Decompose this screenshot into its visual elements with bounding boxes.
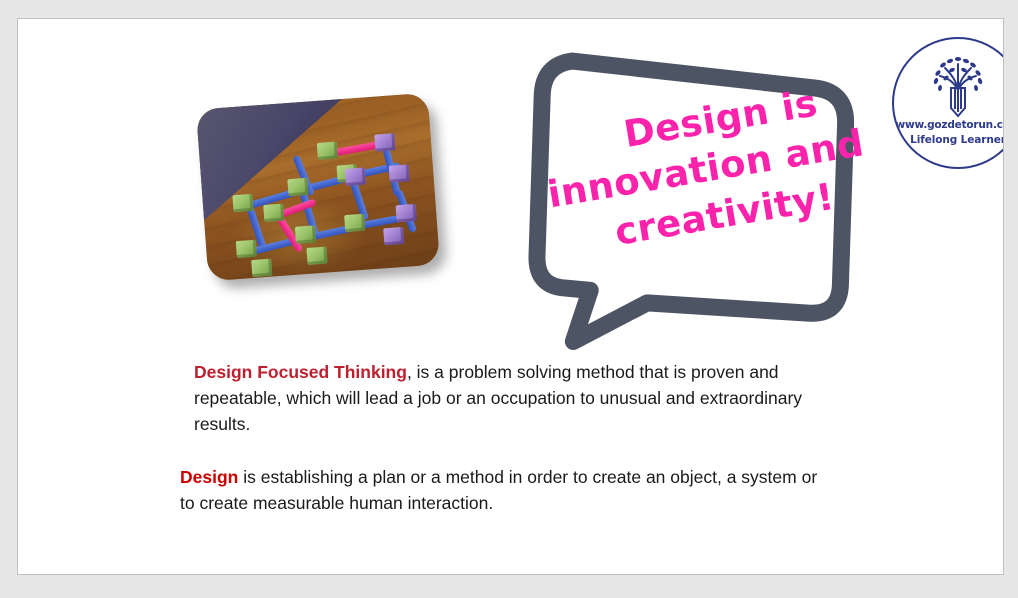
pencil-tree-icon bbox=[923, 50, 993, 120]
lattice-photo-container[interactable] bbox=[196, 97, 444, 289]
paragraph-2-body: is establishing a plan or a method in or… bbox=[180, 467, 817, 513]
speech-bubble-shape bbox=[523, 41, 893, 366]
keyword-design-focused-thinking: Design Focused Thinking bbox=[194, 362, 407, 382]
lattice-model bbox=[196, 93, 440, 282]
lattice-photo bbox=[196, 93, 440, 282]
logo-tagline-text: Lifelong Learner bbox=[894, 134, 1004, 146]
paragraph-design: Design is establishing a plan or a metho… bbox=[180, 464, 828, 516]
site-logo[interactable]: www.gozdetorun.com Lifelong Learner bbox=[892, 37, 1004, 169]
logo-url-text: www.gozdetorun.com bbox=[894, 119, 1004, 131]
presentation-slide: Design is innovation and creativity! bbox=[17, 18, 1004, 575]
paragraph-design-focused-thinking: Design Focused Thinking, is a problem so… bbox=[194, 359, 819, 437]
speech-bubble[interactable]: Design is innovation and creativity! bbox=[523, 41, 893, 366]
keyword-design: Design bbox=[180, 467, 238, 487]
screenshot-stage: Design is innovation and creativity! bbox=[0, 0, 1018, 598]
